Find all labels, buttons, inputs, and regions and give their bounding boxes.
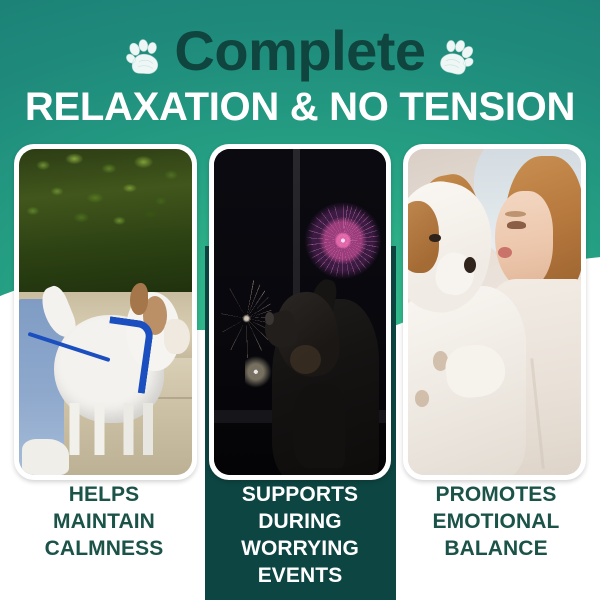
paw-print-icon (431, 33, 480, 82)
caption-helps-maintain-calmness: HELPS MAINTAIN CALMNESS (6, 482, 202, 590)
page-title: Complete (174, 23, 425, 79)
child-sleeping-with-dog-photo (408, 149, 581, 475)
caption-promotes-emotional-balance: PROMOTES EMOTIONAL BALANCE (398, 482, 594, 590)
caption-line: BALANCE (398, 536, 594, 563)
caption-line: WORRYING (202, 536, 398, 563)
infographic-banner: Complete (0, 0, 600, 600)
page-subtitle: RELAXATION & NO TENSION (0, 86, 600, 128)
caption-line: PROMOTES (398, 482, 594, 509)
paw-print-icon (124, 38, 164, 78)
caption-supports-during-worrying-events: SUPPORTS DURING WORRYING EVENTS (202, 482, 398, 590)
photo-card-helps-maintain-calmness (14, 144, 197, 480)
caption-line: HELPS (6, 482, 202, 509)
caption-line: CALMNESS (6, 536, 202, 563)
caption-line: DURING (202, 509, 398, 536)
photo-card-promotes-emotional-balance (403, 144, 586, 480)
dog-watching-fireworks-at-window-photo (214, 149, 387, 475)
caption-row: HELPS MAINTAIN CALMNESS SUPPORTS DURING … (0, 482, 600, 590)
dog-walking-on-leash-photo (19, 149, 192, 475)
headline-block: Complete (0, 18, 600, 128)
photo-card-supports-during-worrying-events (209, 144, 392, 480)
caption-line: SUPPORTS (202, 482, 398, 509)
caption-line: EVENTS (202, 563, 398, 590)
caption-line: EMOTIONAL (398, 509, 594, 536)
caption-line: MAINTAIN (6, 509, 202, 536)
title-row: Complete (0, 18, 600, 84)
photo-card-row (0, 144, 600, 480)
